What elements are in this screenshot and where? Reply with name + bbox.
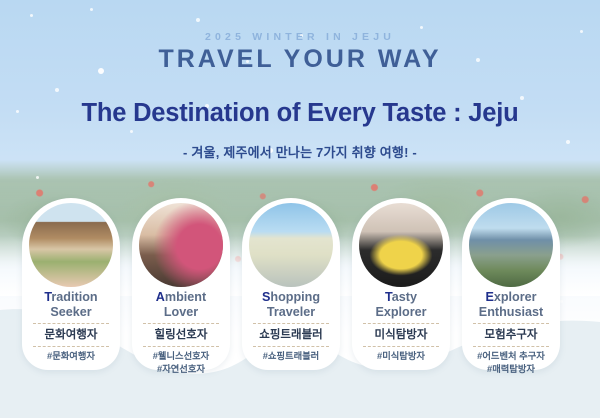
card-divider-bottom bbox=[363, 346, 439, 347]
persona-english-line1: asty bbox=[392, 290, 417, 304]
persona-english-line1: xplorer bbox=[494, 290, 537, 304]
hashtag[interactable]: #미식탐방자 bbox=[352, 350, 450, 363]
card-divider-bottom bbox=[143, 346, 219, 347]
thumbnail-artwork bbox=[139, 203, 223, 287]
hanok-traditional-house-photo bbox=[29, 203, 113, 287]
persona-korean-label: 문화여행자 bbox=[22, 326, 120, 342]
hashtag[interactable]: #쇼핑트래블러 bbox=[242, 350, 340, 363]
shopping-mall-building-photo bbox=[249, 203, 333, 287]
card-divider-top bbox=[33, 323, 109, 324]
persona-english-label: ShoppingTraveler bbox=[242, 290, 340, 320]
persona-hashtag-list: #웰니스선호자#자연선호자 bbox=[132, 350, 230, 375]
persona-card[interactable]: TraditionSeeker문화여행자#문화여행자 bbox=[22, 198, 120, 370]
hashtag[interactable]: #어드벤처 추구자 bbox=[462, 350, 560, 363]
poster-subtitle: - 겨울, 제주에서 만나는 7가지 취향 여행! - bbox=[0, 142, 600, 161]
persona-english-line1: radition bbox=[51, 290, 97, 304]
winter-jeju-promo-poster: 2025 WINTER IN JEJU TRAVEL YOUR WAY The … bbox=[0, 0, 600, 418]
persona-initial-letter: T bbox=[385, 290, 392, 304]
card-divider-top bbox=[473, 323, 549, 324]
card-divider-bottom bbox=[473, 346, 549, 347]
thumbnail-artwork bbox=[249, 203, 333, 287]
persona-korean-label: 모험추구자 bbox=[462, 326, 560, 342]
persona-card[interactable]: AmbientLover힐링선호자#웰니스선호자#자연선호자 bbox=[132, 198, 230, 370]
poster-kicker: 2025 WINTER IN JEJU bbox=[0, 31, 600, 43]
wellness-nature-photo bbox=[139, 203, 223, 287]
persona-english-line2: Seeker bbox=[22, 305, 120, 320]
hashtag[interactable]: #매력탐방자 bbox=[462, 363, 560, 376]
persona-initial-letter: E bbox=[485, 290, 493, 304]
thumbnail-artwork bbox=[29, 203, 113, 287]
persona-korean-label: 쇼핑트래블러 bbox=[242, 326, 340, 342]
page-title: The Destination of Every Taste : Jeju bbox=[0, 99, 600, 128]
persona-english-label: TraditionSeeker bbox=[22, 290, 120, 320]
card-divider-top bbox=[363, 323, 439, 324]
poster-wordmark: TRAVEL YOUR WAY bbox=[0, 45, 600, 74]
mountain-hiking-photo bbox=[469, 203, 553, 287]
persona-english-label: TastyExplorer bbox=[352, 290, 450, 320]
persona-card[interactable]: ExplorerEnthusiast모험추구자#어드벤처 추구자#매력탐방자 bbox=[462, 198, 560, 370]
persona-korean-label: 힐링선호자 bbox=[132, 326, 230, 342]
persona-korean-label: 미식탐방자 bbox=[352, 326, 450, 342]
hashtag[interactable]: #자연선호자 bbox=[132, 363, 230, 376]
persona-english-line2: Lover bbox=[132, 305, 230, 320]
thumbnail-artwork bbox=[469, 203, 553, 287]
persona-english-label: ExplorerEnthusiast bbox=[462, 290, 560, 320]
persona-hashtag-list: #어드벤처 추구자#매력탐방자 bbox=[462, 350, 560, 375]
hashtag[interactable]: #문화여행자 bbox=[22, 350, 120, 363]
persona-hashtag-list: #미식탐방자 bbox=[352, 350, 450, 363]
persona-english-line2: Explorer bbox=[352, 305, 450, 320]
thumbnail-artwork bbox=[359, 203, 443, 287]
card-divider-bottom bbox=[253, 346, 329, 347]
persona-card[interactable]: ShoppingTraveler쇼핑트래블러#쇼핑트래블러 bbox=[242, 198, 340, 370]
persona-english-label: AmbientLover bbox=[132, 290, 230, 320]
persona-hashtag-list: #쇼핑트래블러 bbox=[242, 350, 340, 363]
persona-initial-letter: A bbox=[156, 290, 165, 304]
card-divider-top bbox=[143, 323, 219, 324]
persona-english-line1: hopping bbox=[270, 290, 320, 304]
noodle-food-photo bbox=[359, 203, 443, 287]
persona-card-list: TraditionSeeker문화여행자#문화여행자AmbientLover힐링… bbox=[0, 198, 600, 378]
persona-english-line1: mbient bbox=[165, 290, 206, 304]
persona-english-line2: Traveler bbox=[242, 305, 340, 320]
persona-english-line2: Enthusiast bbox=[462, 305, 560, 320]
hashtag[interactable]: #웰니스선호자 bbox=[132, 350, 230, 363]
persona-hashtag-list: #문화여행자 bbox=[22, 350, 120, 363]
persona-card[interactable]: TastyExplorer미식탐방자#미식탐방자 bbox=[352, 198, 450, 370]
card-divider-bottom bbox=[33, 346, 109, 347]
card-divider-top bbox=[253, 323, 329, 324]
